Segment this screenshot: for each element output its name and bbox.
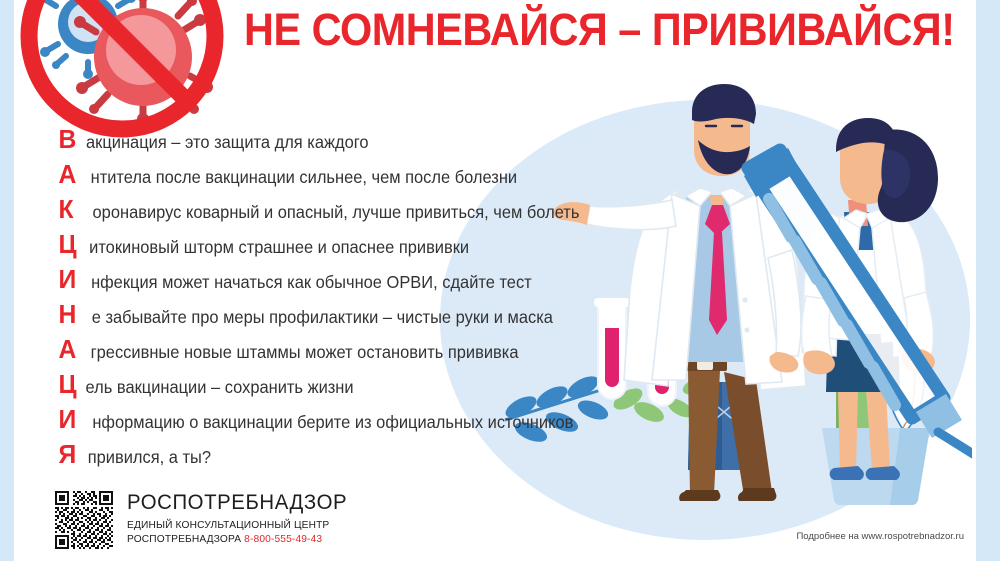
acrostic-line-8: Ц ель вакцинации – сохранить жизни (58, 371, 618, 406)
footer-brand-block: РОСПОТРЕБНАДЗОР ЕДИНЫЙ КОНСУЛЬТАЦИОННЫЙ … (55, 489, 354, 551)
acrostic-text: е забывайте про меры профилактики – чист… (92, 307, 553, 327)
acrostic-initial: Ц (58, 371, 76, 397)
acrostic-text: ель вакцинации – сохранить жизни (86, 377, 354, 397)
right-inner-gap (972, 0, 976, 561)
acrostic-list: В акцинация – это защита для каждого А н… (58, 126, 618, 476)
acrostic-initial: И (58, 406, 76, 432)
acrostic-line-9: И нформацию о вакцинации берите из офици… (58, 406, 618, 441)
acrostic-initial: Н (58, 301, 76, 327)
consultation-line-1: ЕДИНЫЙ КОНСУЛЬТАЦИОННЫЙ ЦЕНТР (127, 519, 347, 533)
acrostic-text: акцинация – это защита для каждого (86, 132, 369, 152)
consultation-line-2: РОСПОТРЕБНАДЗОРА 8-800-555-49-43 (127, 533, 347, 547)
acrostic-line-1: В акцинация – это защита для каждого (58, 126, 618, 161)
no-virus-badge-icon (29, 0, 215, 129)
acrostic-text: оронавирус коварный и опасный, лучше при… (93, 202, 580, 222)
acrostic-line-5: И нфекция может начаться как обычное ОРВ… (58, 266, 618, 301)
acrostic-initial: Я (58, 441, 76, 467)
right-edge-band (976, 0, 1000, 561)
acrostic-text: грессивные новые штаммы может остановить… (91, 342, 519, 362)
acrostic-line-2: А нтитела после вакцинации сильнее, чем … (58, 161, 618, 196)
acrostic-initial: Ц (58, 231, 76, 257)
acrostic-text: итокиновый шторм страшнее и опаснее прив… (89, 237, 469, 257)
acrostic-initial: А (58, 161, 76, 187)
website-note[interactable]: Подробнее на www.rospotrebnadzor.ru (796, 531, 964, 543)
acrostic-initial: И (58, 266, 76, 292)
qr-code-icon[interactable] (55, 489, 113, 551)
acrostic-line-3: К оронавирус коварный и опасный, лучше п… (58, 196, 618, 231)
consultation-line-2-text: РОСПОТРЕБНАДЗОРА (127, 533, 241, 545)
poster-canvas: НЕ СОМНЕВАЙСЯ – ПРИВИВАЙСЯ! В акцинация … (0, 0, 1000, 561)
acrostic-initial: К (58, 196, 76, 222)
acrostic-text: нтитела после вакцинации сильнее, чем по… (91, 167, 518, 187)
acrostic-line-4: Ц итокиновый шторм страшнее и опаснее пр… (58, 231, 618, 266)
acrostic-text: нформацию о вакцинации берите из официал… (92, 412, 573, 432)
poster-title: НЕ СОМНЕВАЙСЯ – ПРИВИВАЙСЯ! (244, 4, 888, 56)
brand-text-block: РОСПОТРЕБНАДЗОР ЕДИНЫЙ КОНСУЛЬТАЦИОННЫЙ … (127, 489, 354, 546)
acrostic-text: нфекция может начаться как обычное ОРВИ,… (91, 272, 532, 292)
acrostic-initial: В (58, 126, 76, 152)
acrostic-line-6: Н е забывайте про меры профилактики – чи… (58, 301, 618, 336)
left-edge-band (0, 0, 14, 561)
consultation-center-info: ЕДИНЫЙ КОНСУЛЬТАЦИОННЫЙ ЦЕНТР РОСПОТРЕБН… (127, 519, 347, 546)
acrostic-line-7: А грессивные новые штаммы может останови… (58, 336, 618, 371)
acrostic-text: привился, а ты? (81, 447, 211, 467)
acrostic-initial: А (58, 336, 76, 362)
acrostic-line-10: Я привился, а ты? (58, 441, 618, 476)
hotline-phone[interactable]: 8-800-555-49-43 (244, 533, 322, 545)
organization-name: РОСПОТРЕБНАДЗОР (127, 491, 347, 515)
